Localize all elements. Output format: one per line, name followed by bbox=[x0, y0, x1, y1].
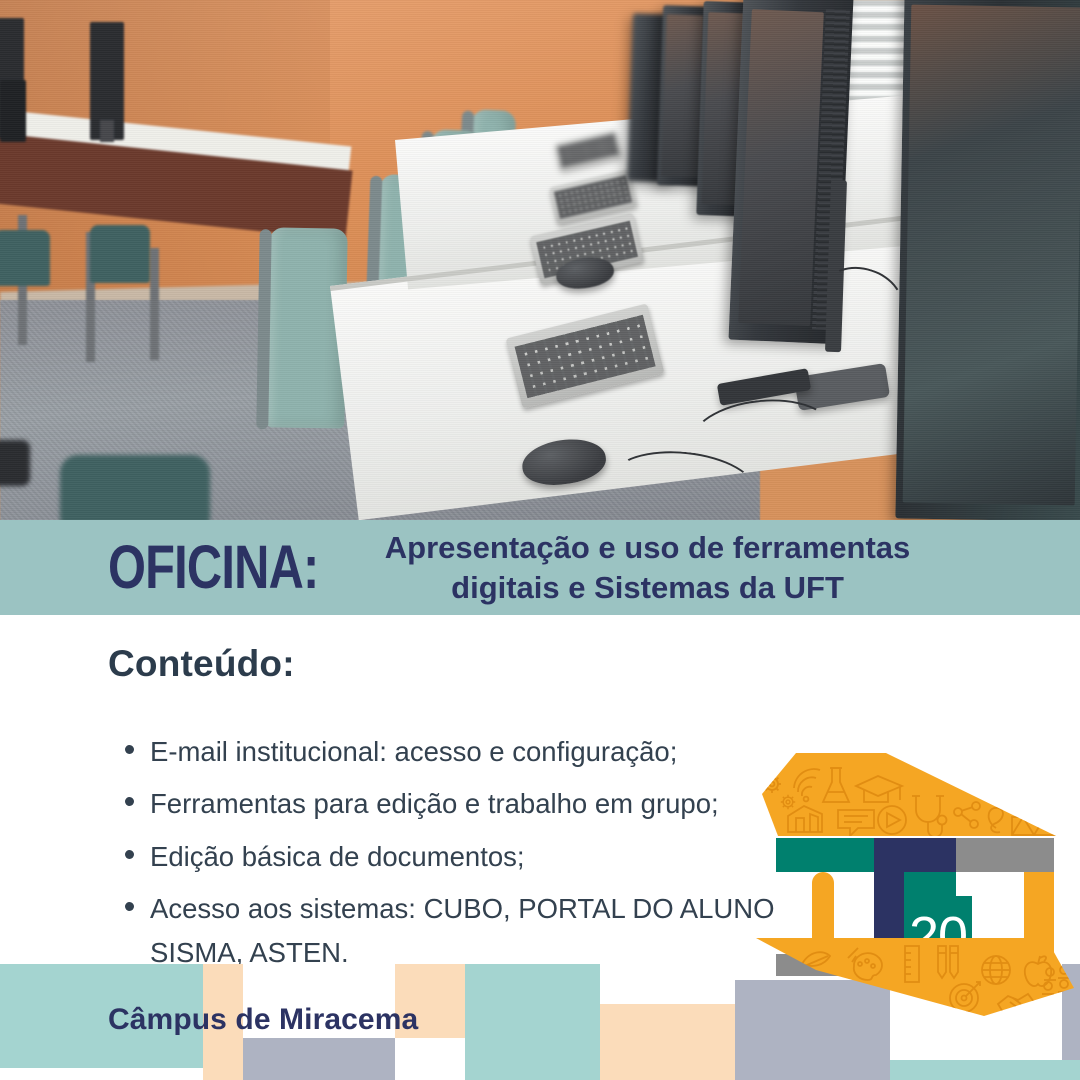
bullet-icon bbox=[125, 745, 134, 754]
photo-back-chair bbox=[0, 230, 50, 286]
photo-back-monitor-stand bbox=[100, 120, 114, 142]
photo-foreground-object bbox=[0, 440, 30, 486]
banner-subtitle: Apresentação e uso de ferramentas digita… bbox=[263, 528, 1032, 607]
list-item-label: Acesso aos sistemas: CUBO, PORTAL DO ALU… bbox=[150, 893, 782, 967]
footer-block-gray bbox=[243, 1038, 395, 1080]
list-item-label: Ferramentas para edição e trabalho em gr… bbox=[150, 788, 719, 819]
list-item: Acesso aos sistemas: CUBO, PORTAL DO ALU… bbox=[150, 887, 790, 974]
bullet-icon bbox=[125, 902, 134, 911]
uft-logo: 20 ANOS bbox=[756, 748, 1080, 1020]
list-item: Ferramentas para edição e trabalho em gr… bbox=[150, 782, 790, 825]
footer-block-teal bbox=[465, 964, 600, 1080]
title-banner: OFICINA: Apresentação e uso de ferrament… bbox=[0, 520, 1080, 615]
poster-root: OFICINA: Apresentação e uso de ferrament… bbox=[0, 0, 1080, 1080]
topics-list: E-mail institucional: acesso e configura… bbox=[118, 730, 790, 983]
list-item: E-mail institucional: acesso e configura… bbox=[150, 730, 790, 773]
footer-block-peach bbox=[600, 1004, 735, 1080]
list-item-label: E-mail institucional: acesso e configura… bbox=[150, 736, 677, 767]
photo-foreground-chair bbox=[60, 455, 210, 522]
photo-monitor bbox=[895, 0, 1080, 522]
list-item-label: Edição básica de documentos; bbox=[150, 841, 525, 872]
footer-block-teal bbox=[890, 1060, 1080, 1080]
logo-top-banner bbox=[762, 753, 1056, 837]
banner-oficina-label: OFICINA: bbox=[108, 537, 318, 598]
logo-strip-gray bbox=[956, 838, 1054, 872]
header-photo bbox=[0, 0, 1080, 522]
list-item: Edição básica de documentos; bbox=[150, 835, 790, 878]
logo-bottom-banner bbox=[756, 938, 1074, 1016]
logo-letter-f-bar-top bbox=[904, 872, 956, 900]
photo-back-desk-leg bbox=[150, 248, 159, 360]
content-heading: Conteúdo: bbox=[108, 643, 295, 685]
logo-strip-green bbox=[776, 838, 874, 872]
photo-back-monitor bbox=[0, 80, 26, 142]
logo-strip-navy bbox=[874, 838, 956, 872]
campus-label: Câmpus de Miracema bbox=[108, 1003, 418, 1037]
photo-back-chair bbox=[90, 225, 150, 283]
bullet-icon bbox=[125, 797, 134, 806]
bullet-icon bbox=[125, 850, 134, 859]
logo-letter-t-bar bbox=[956, 872, 1024, 884]
